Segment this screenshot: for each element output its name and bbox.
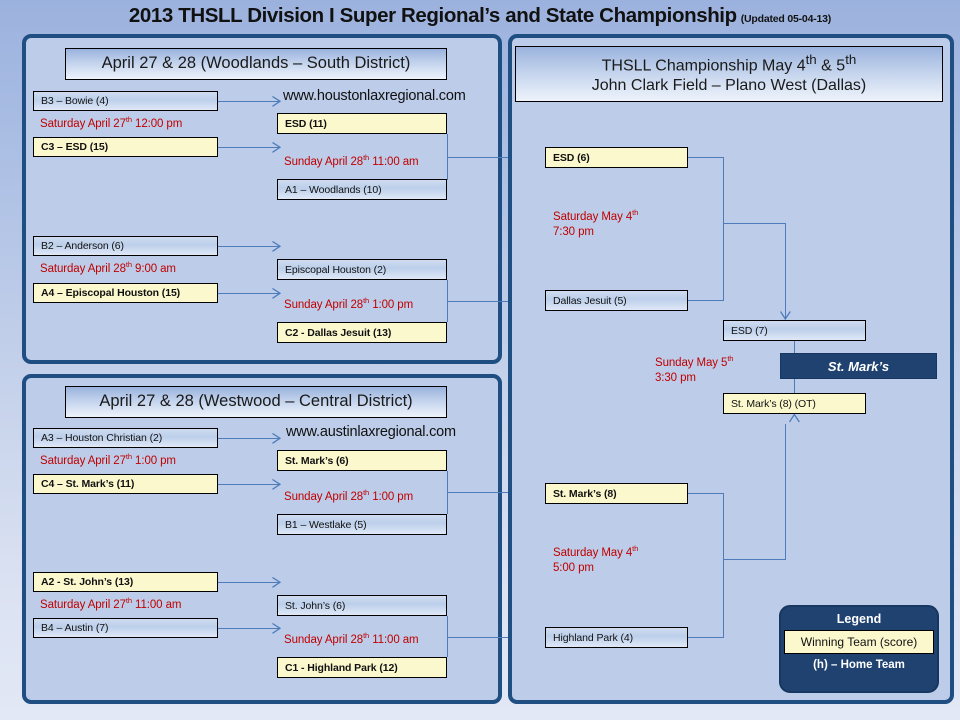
panel-south-heading-text: April 27 & 28 (Woodlands – South Distric… — [102, 54, 411, 73]
time-text: Sunday April 28th 1:00 pm — [284, 491, 413, 503]
panel-south-heading: April 27 & 28 (Woodlands – South Distric… — [65, 48, 447, 80]
time-line1: Saturday May 4th — [553, 544, 638, 561]
team-box-b4-austin[interactable]: B4 – Austin (7) — [33, 618, 218, 638]
team-label: ESD (7) — [731, 325, 768, 337]
central-game4-time: Sunday April 28th 11:00 am — [284, 631, 419, 648]
team-label: C3 – ESD (15) — [41, 141, 108, 153]
team-label: St. Mark’s (8) (OT) — [731, 398, 816, 410]
team-label: A4 – Episcopal Houston (15) — [41, 287, 180, 299]
team-box-esd-7[interactable]: ESD (7) — [723, 320, 866, 341]
champion-name: St. Mark’s — [828, 359, 889, 374]
team-box-dallas-jesuit-5[interactable]: Dallas Jesuit (5) — [545, 290, 688, 311]
team-label: B2 – Anderson (6) — [41, 240, 124, 252]
time-line1: Sunday May 5th — [655, 354, 733, 371]
connector-line — [794, 341, 795, 353]
time-text: Saturday April 27th 11:00 am — [40, 599, 181, 611]
champion-banner: St. Mark’s — [780, 353, 937, 379]
team-box-st-marks-8[interactable]: St. Mark’s (8) — [545, 483, 688, 504]
team-box-c2-dallas-jesuit[interactable]: C2 - Dallas Jesuit (13) — [277, 322, 447, 343]
arrow-head-icon — [272, 142, 281, 153]
arrow-head-icon — [272, 288, 281, 299]
team-label: St. John’s (6) — [285, 600, 345, 612]
team-box-c4-st-marks[interactable]: C4 – St. Mark’s (11) — [33, 474, 218, 494]
team-label: A2 - St. John’s (13) — [41, 576, 133, 588]
connector-line — [218, 246, 279, 247]
connector-line — [218, 101, 279, 102]
time-line2: 7:30 pm — [553, 225, 638, 241]
time-text: Sunday April 28th 11:00 am — [284, 156, 419, 168]
team-label: St. Mark’s (6) — [285, 455, 349, 467]
semifinal-bottom-time: Saturday May 4th 5:00 pm — [553, 544, 638, 577]
time-text: Sunday April 28th 11:00 am — [284, 634, 419, 646]
panel-central-heading: April 27 & 28 (Westwood – Central Distri… — [65, 386, 447, 418]
team-box-st-marks-8-ot[interactable]: St. Mark’s (8) (OT) — [723, 393, 866, 414]
central-regional-url[interactable]: www.austinlaxregional.com — [286, 424, 456, 440]
connector-line — [785, 223, 786, 318]
team-box-st-marks-6[interactable]: St. Mark’s (6) — [277, 450, 447, 471]
team-label: A1 – Woodlands (10) — [285, 184, 382, 196]
team-box-a1-woodlands[interactable]: A1 – Woodlands (10) — [277, 179, 447, 200]
time-line1: Saturday May 4th — [553, 208, 638, 225]
team-label: Highland Park (4) — [553, 632, 633, 644]
arrow-head-icon — [272, 479, 281, 490]
page-title-main: 2013 THSLL Division I Super Regional’s a… — [129, 4, 737, 27]
connector-line — [794, 379, 795, 393]
central-game2-time: Sunday April 28th 1:00 pm — [284, 488, 413, 505]
semifinal-top-time: Saturday May 4th 7:30 pm — [553, 208, 638, 241]
central-game3-time: Saturday April 27th 11:00 am — [40, 596, 181, 613]
bracket-canvas: 2013 THSLL Division I Super Regional’s a… — [0, 0, 960, 720]
south-regional-url[interactable]: www.houstonlaxregional.com — [283, 88, 466, 104]
team-box-highland-park-4[interactable]: Highland Park (4) — [545, 627, 688, 648]
time-text: Saturday April 28th 9:00 am — [40, 263, 176, 275]
south-game1-time: Saturday April 27th 12:00 pm — [40, 115, 182, 132]
time-text: Saturday April 27th 12:00 pm — [40, 118, 182, 130]
connector-line — [723, 559, 786, 560]
team-label: Episcopal Houston (2) — [285, 264, 386, 276]
connector-line — [218, 438, 279, 439]
team-box-b1-westlake[interactable]: B1 – Westlake (5) — [277, 514, 447, 535]
time-text: Sunday April 28th 1:00 pm — [284, 299, 413, 311]
team-label: ESD (11) — [285, 118, 327, 130]
team-box-a4-episcopal-houston[interactable]: A4 – Episcopal Houston (15) — [33, 283, 218, 303]
panel-championship-heading: THSLL Championship May 4th & 5th John Cl… — [515, 46, 943, 102]
central-game1-time: Saturday April 27th 1:00 pm — [40, 452, 176, 469]
team-box-esd-6[interactable]: ESD (6) — [545, 147, 688, 168]
team-box-a2-st-johns[interactable]: A2 - St. John’s (13) — [33, 572, 218, 592]
arrow-head-icon — [272, 623, 281, 634]
team-label: Dallas Jesuit (5) — [553, 295, 627, 307]
connector-line — [688, 157, 724, 158]
team-box-c3-esd[interactable]: C3 – ESD (15) — [33, 137, 218, 157]
connector-line — [688, 300, 724, 301]
team-label: ESD (6) — [553, 152, 590, 164]
championship-heading-line2: John Clark Field – Plano West (Dallas) — [592, 77, 866, 96]
connector-line — [218, 628, 279, 629]
time-line2: 3:30 pm — [655, 371, 733, 387]
time-text: Saturday April 27th 1:00 pm — [40, 455, 176, 467]
connector-line — [218, 147, 279, 148]
legend-panel: Legend Winning Team (score) (h) – Home T… — [779, 605, 939, 693]
connector-line — [785, 424, 786, 560]
connector-line — [218, 293, 279, 294]
legend-title: Legend — [837, 612, 881, 626]
team-box-b3-bowie[interactable]: B3 – Bowie (4) — [33, 91, 218, 111]
team-label: B3 – Bowie (4) — [41, 95, 108, 107]
team-box-st-johns-6[interactable]: St. John’s (6) — [277, 595, 447, 616]
page-title: 2013 THSLL Division I Super Regional’s a… — [0, 4, 960, 28]
arrow-head-icon — [272, 96, 281, 107]
team-label: B4 – Austin (7) — [41, 622, 108, 634]
team-label: A3 – Houston Christian (2) — [41, 432, 162, 444]
arrow-head-icon — [789, 414, 800, 423]
time-line2: 5:00 pm — [553, 561, 638, 577]
connector-line — [688, 637, 724, 638]
legend-winner-swatch: Winning Team (score) — [784, 630, 934, 654]
south-game3-time: Saturday April 28th 9:00 am — [40, 260, 176, 277]
team-box-b2-anderson[interactable]: B2 – Anderson (6) — [33, 236, 218, 256]
connector-line — [218, 484, 279, 485]
connector-line — [218, 582, 279, 583]
south-game2-time: Sunday April 28th 11:00 am — [284, 153, 419, 170]
arrow-head-icon — [272, 241, 281, 252]
team-box-episcopal-houston-2[interactable]: Episcopal Houston (2) — [277, 259, 447, 280]
panel-central-heading-text: April 27 & 28 (Westwood – Central Distri… — [99, 392, 412, 411]
connector-line — [723, 493, 724, 638]
legend-swatch-label: Winning Team (score) — [801, 635, 917, 649]
team-label: C1 - Highland Park (12) — [285, 662, 398, 674]
team-label: St. Mark’s (8) — [553, 488, 617, 500]
team-box-esd-11[interactable]: ESD (11) — [277, 113, 447, 134]
legend-home-team-note: (h) – Home Team — [813, 659, 905, 671]
connector-line — [723, 157, 724, 301]
team-label: C4 – St. Mark’s (11) — [41, 478, 134, 490]
arrow-head-icon — [272, 577, 281, 588]
arrow-head-icon — [272, 433, 281, 444]
championship-heading-line1: THSLL Championship May 4th & 5th — [602, 52, 857, 76]
final-time: Sunday May 5th 3:30 pm — [655, 354, 733, 387]
team-box-a3-houston-christian[interactable]: A3 – Houston Christian (2) — [33, 428, 218, 448]
page-title-updated: (Updated 05-04-13) — [741, 13, 831, 25]
connector-line — [723, 223, 786, 224]
team-box-c1-highland-park[interactable]: C1 - Highland Park (12) — [277, 657, 447, 678]
connector-line — [688, 493, 724, 494]
team-label: C2 - Dallas Jesuit (13) — [285, 327, 391, 339]
team-label: B1 – Westlake (5) — [285, 519, 367, 531]
south-game4-time: Sunday April 28th 1:00 pm — [284, 296, 413, 313]
arrow-head-icon — [780, 311, 791, 320]
